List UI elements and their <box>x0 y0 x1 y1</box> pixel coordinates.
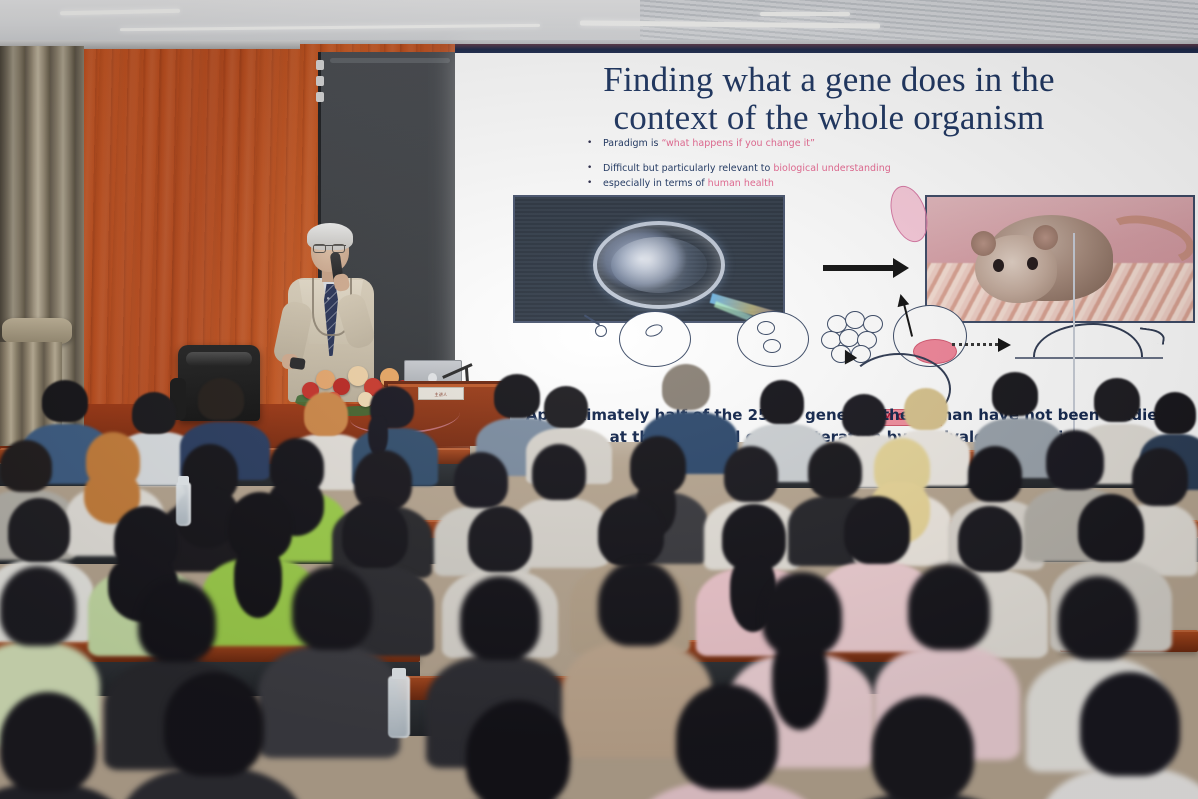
water-bottle <box>176 482 191 526</box>
panel-clip <box>316 76 324 86</box>
bullet-highlight: biological understanding <box>773 163 890 174</box>
zygote-stage <box>619 311 691 367</box>
person-hair <box>904 388 948 430</box>
morula-cell <box>845 311 865 329</box>
person-hair <box>454 452 508 508</box>
slide-title-line-2: context of the whole organism <box>495 99 1163 137</box>
person-hair <box>342 500 408 568</box>
person-hair <box>598 498 664 566</box>
mouse-ear <box>1033 225 1058 250</box>
person-hair <box>198 378 244 420</box>
person-hair <box>992 372 1038 416</box>
person-hair <box>844 496 910 564</box>
slide-bullet-item: • especially in terms of human health <box>587 177 1147 191</box>
person-body <box>258 646 400 758</box>
bullet-marker-icon: • <box>587 137 603 151</box>
panel-clip <box>316 92 324 102</box>
bottle-cap <box>178 476 189 485</box>
presentation-slide: Finding what a gene does in the context … <box>455 53 1198 442</box>
screen-top-band <box>455 44 1198 53</box>
chair-highlight <box>186 352 252 366</box>
person-hair <box>598 560 680 646</box>
mouse-eye <box>993 259 1004 272</box>
transition-arrow-icon <box>823 265 895 271</box>
person-hair <box>532 444 586 500</box>
water-bottle <box>388 676 410 738</box>
projection-screen: Finding what a gene does in the context … <box>455 44 1198 442</box>
person-hair <box>1094 378 1140 422</box>
person-hair <box>304 392 348 436</box>
bullet-text: Paradigm is “what happens if you change … <box>603 137 815 151</box>
person-hair <box>1154 392 1196 434</box>
person-hair <box>466 700 570 799</box>
person-hair <box>872 696 974 799</box>
mouse-line-drawing <box>1033 323 1143 357</box>
embryo-micrograph-image <box>513 195 785 323</box>
panel-clip <box>316 60 324 70</box>
chimeric-mouse-image <box>925 195 1195 323</box>
pipette-tip-circle <box>595 325 607 337</box>
person-hair <box>132 392 176 434</box>
person-hair <box>808 442 862 498</box>
person-hair <box>1132 448 1188 506</box>
person-hair <box>908 564 990 650</box>
mouse-eye <box>1027 257 1038 270</box>
bullet-text: especially in terms of human health <box>603 177 774 191</box>
bottle-cap <box>392 668 406 679</box>
ceiling-light <box>760 12 850 16</box>
person-hair <box>0 692 96 792</box>
person-hair <box>968 446 1022 502</box>
person-hair <box>724 446 778 502</box>
two-cell-nucleus <box>757 321 775 335</box>
bullet-text: Difficult but particularly relevant to b… <box>603 162 891 176</box>
person-hair <box>662 364 710 410</box>
lecture-hall-scene: Finding what a gene does in the context … <box>0 0 1198 799</box>
slide-bullet-item: • Paradigm is “what happens if you chang… <box>587 137 1147 151</box>
person-hair <box>494 374 540 418</box>
person-hair <box>8 498 70 562</box>
dashed-transfer-arrow-icon <box>952 343 998 346</box>
bullet-highlight: “what happens if you change it” <box>661 138 814 149</box>
bullet-marker-icon: • <box>587 177 603 191</box>
person-hair <box>1058 576 1138 660</box>
slide-title: Finding what a gene does in the context … <box>495 61 1163 137</box>
person-hair <box>1078 494 1144 562</box>
curtain-tieback <box>2 318 72 344</box>
person-hair <box>1080 672 1180 776</box>
person-hair <box>0 566 76 646</box>
blastocyst-interior <box>611 237 707 293</box>
person-hair <box>676 684 778 790</box>
bullet-marker-icon: • <box>587 162 603 176</box>
person-hair <box>468 506 532 572</box>
eyeglass-lens-left <box>313 244 326 253</box>
person-hair <box>842 394 886 436</box>
slide-vertical-divider <box>1073 233 1075 433</box>
person-ponytail <box>234 544 282 618</box>
slide-bullet-list: • Paradigm is “what happens if you chang… <box>587 137 1147 191</box>
person-ponytail <box>772 636 828 730</box>
mouse-ear <box>971 231 996 256</box>
panel-handle <box>330 58 450 63</box>
person-hair <box>164 672 264 776</box>
person-hair <box>760 380 804 424</box>
bullet-highlight: human health <box>708 178 774 189</box>
two-cell-nucleus <box>763 339 781 353</box>
mouse-line-drawing-baseline <box>1015 357 1163 359</box>
person-hair <box>1046 430 1104 490</box>
mouse-line-drawing-tail <box>1138 327 1166 344</box>
person-hair <box>958 506 1022 572</box>
person-hair <box>292 566 372 650</box>
slide-title-line-1: Finding what a gene does in the <box>495 61 1163 99</box>
person-hair <box>42 380 88 422</box>
person-hair <box>460 576 540 660</box>
slide-bullet-item: • Difficult but particularly relevant to… <box>587 162 1147 176</box>
person-hair <box>0 440 52 492</box>
person-hair <box>544 386 588 428</box>
person-hair <box>138 580 216 662</box>
